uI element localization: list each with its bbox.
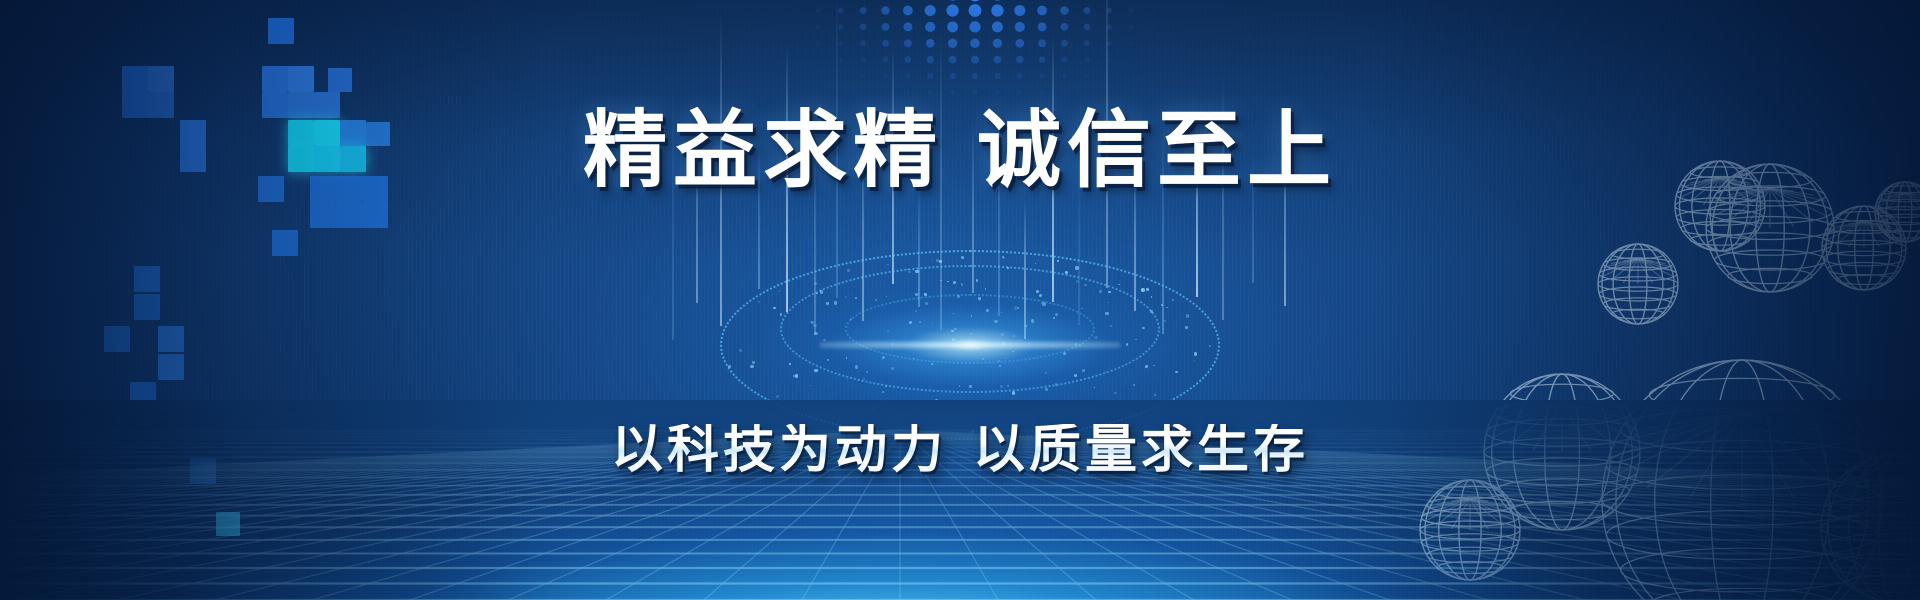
subline-part-a: 以科技为动力 bbox=[611, 419, 947, 480]
page-title: 精益求精诚信至上 bbox=[583, 108, 1337, 192]
headline-part-a: 精益求精 bbox=[583, 100, 943, 199]
subline-container: 以科技为动力以质量求生存 bbox=[0, 424, 1920, 476]
subline-part-b: 以质量求生存 bbox=[973, 419, 1309, 480]
hero-banner: 精益求精诚信至上 以科技为动力以质量求生存 bbox=[0, 0, 1920, 600]
background-side-vignette bbox=[0, 0, 1920, 600]
headline-container: 精益求精诚信至上 bbox=[0, 108, 1920, 192]
headline-part-b: 诚信至上 bbox=[977, 100, 1337, 199]
page-subtitle: 以科技为动力以质量求生存 bbox=[611, 424, 1309, 476]
